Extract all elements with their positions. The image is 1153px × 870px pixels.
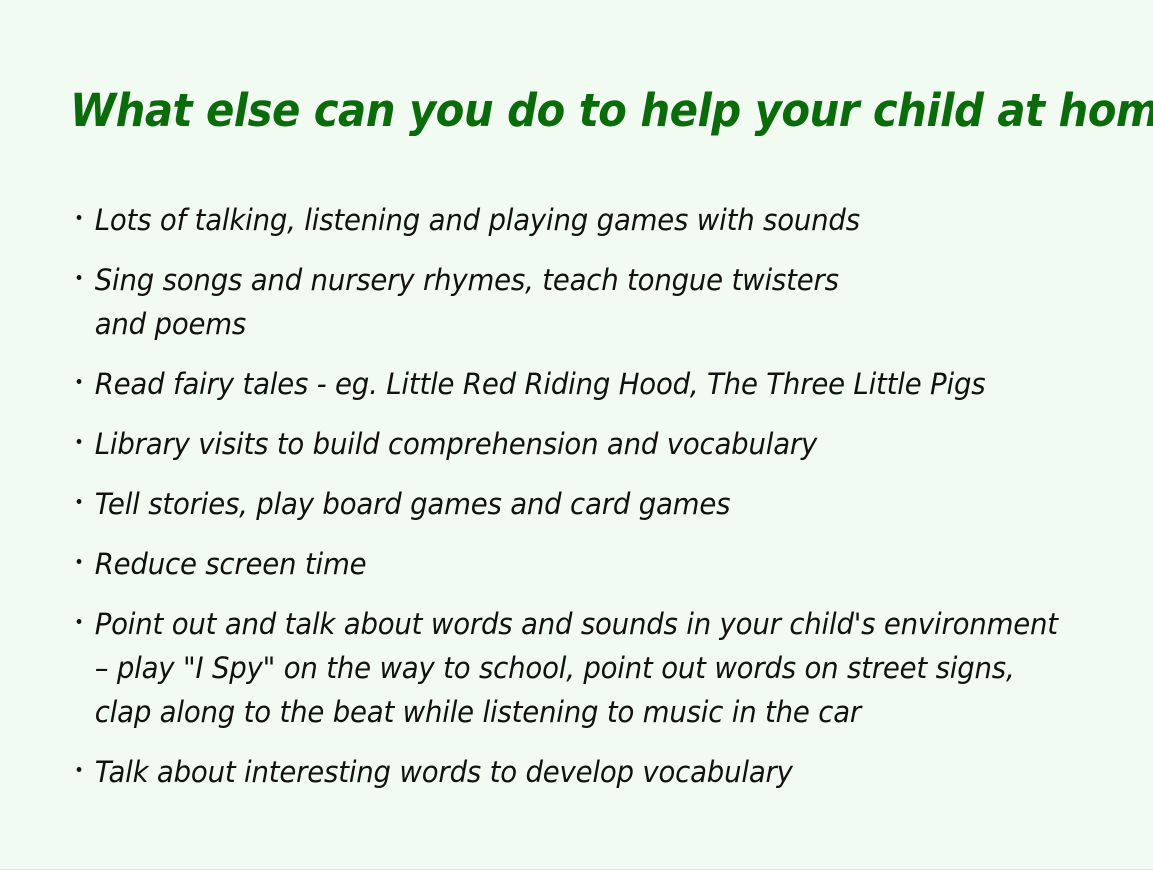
bullet-dot-icon [77,559,82,564]
bullet-text-line: Point out and talk about words and sound… [95,602,1049,646]
list-item: Sing songs and nursery rhymes, teach ton… [70,258,1049,346]
bullet-dot-icon [77,619,82,624]
list-item: Reduce screen time [70,542,1049,586]
page-title: What else can you do to help your child … [70,86,1019,136]
bullet-text-line: Read fairy tales - eg. Little Red Riding… [95,362,1049,406]
bullet-text-line: – play "I Spy" on the way to school, poi… [95,646,1049,690]
bullet-dot-icon [77,767,82,772]
bullet-dot-icon [77,379,82,384]
bullet-text-line: Sing songs and nursery rhymes, teach ton… [95,258,1049,302]
bullet-list: Lots of talking, listening and playing g… [70,198,1100,794]
list-item: Talk about interesting words to develop … [70,750,1049,794]
bullet-text-line: Lots of talking, listening and playing g… [95,198,1049,242]
list-item: Tell stories, play board games and card … [70,482,1049,526]
bullet-text-line: and poems [95,302,1049,346]
bullet-text-line: Talk about interesting words to develop … [95,750,1049,794]
bullet-text-line: Reduce screen time [95,542,1049,586]
list-item: Library visits to build comprehension an… [70,422,1049,466]
bullet-dot-icon [77,499,82,504]
bullet-dot-icon [77,275,82,280]
bullet-dot-icon [77,215,82,220]
bullet-dot-icon [77,439,82,444]
list-item: Lots of talking, listening and playing g… [70,198,1049,242]
list-item: Point out and talk about words and sound… [70,602,1049,734]
bullet-text-line: clap along to the beat while listening t… [95,690,1049,734]
bullet-text-line: Tell stories, play board games and card … [95,482,1049,526]
list-item: Read fairy tales - eg. Little Red Riding… [70,362,1049,406]
bullet-text-line: Library visits to build comprehension an… [95,422,1049,466]
slide-canvas: What else can you do to help your child … [0,0,1153,870]
